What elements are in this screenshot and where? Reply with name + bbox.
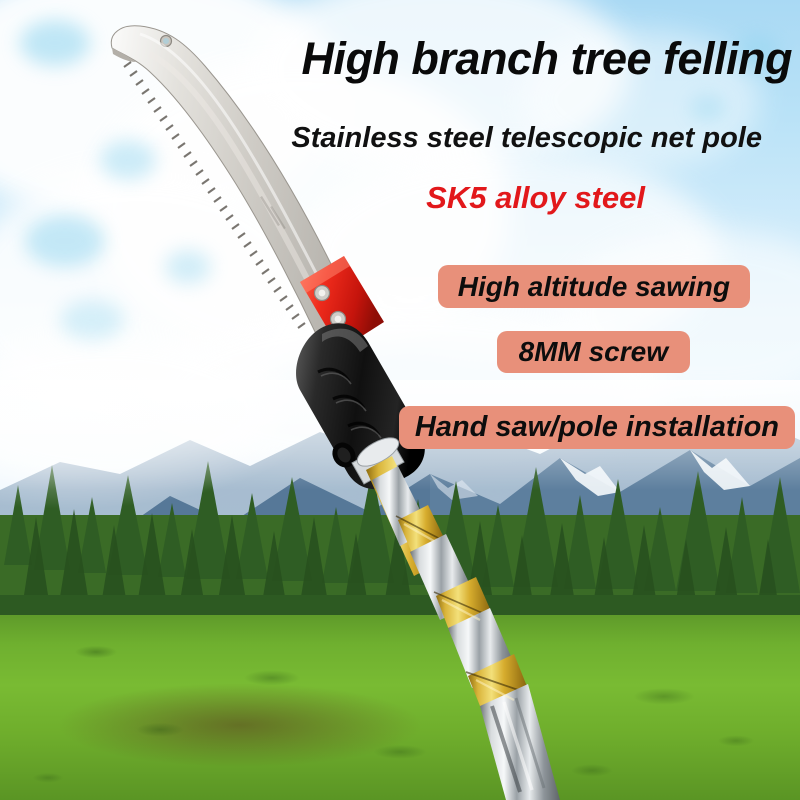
grass-meadow: [0, 615, 800, 800]
feature-badge-high-altitude-sawing: High altitude sawing: [438, 265, 750, 308]
product-banner: High branch tree felling Stainless steel…: [0, 0, 800, 800]
material-callout: SK5 alloy steel: [426, 182, 645, 213]
subheadline: Stainless steel telescopic net pole: [291, 124, 762, 153]
conifer-forest: [0, 455, 800, 640]
feature-badge-8mm-screw: 8MM screw: [497, 331, 690, 373]
feature-badge-hand-saw-pole-installation: Hand saw/pole installation: [399, 406, 795, 449]
headline: High branch tree felling: [301, 36, 792, 81]
